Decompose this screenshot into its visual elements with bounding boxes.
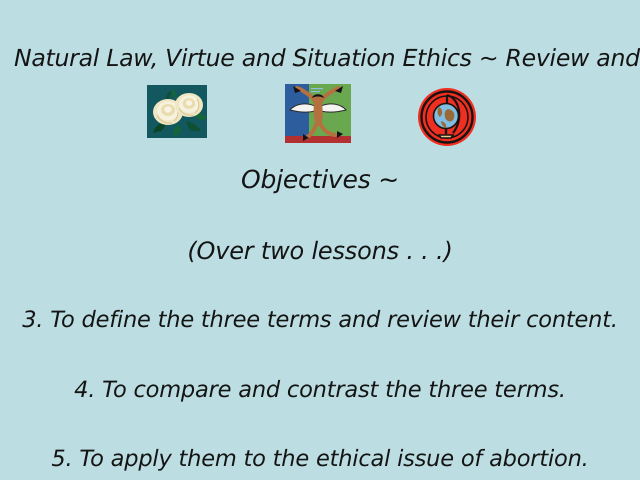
winged-figure-icon <box>285 84 351 143</box>
page-title: Natural Law, Virtue and Situation Ethics… <box>14 44 640 72</box>
objectives-heading: Objectives ~ <box>0 165 640 194</box>
globe-icon <box>415 87 479 147</box>
slide-canvas: Natural Law, Virtue and Situation Ethics… <box>0 0 640 480</box>
lessons-note: (Over two lessons . . .) <box>0 237 640 265</box>
globe-image <box>415 87 479 147</box>
angel-image <box>285 84 351 143</box>
roses-icon <box>147 85 207 138</box>
roses-image <box>147 85 207 138</box>
objective-item-3: 3. To define the three terms and review … <box>0 307 640 333</box>
objective-item-5: 5. To apply them to the ethical issue of… <box>0 446 640 472</box>
objective-item-4: 4. To compare and contrast the three ter… <box>0 377 640 403</box>
